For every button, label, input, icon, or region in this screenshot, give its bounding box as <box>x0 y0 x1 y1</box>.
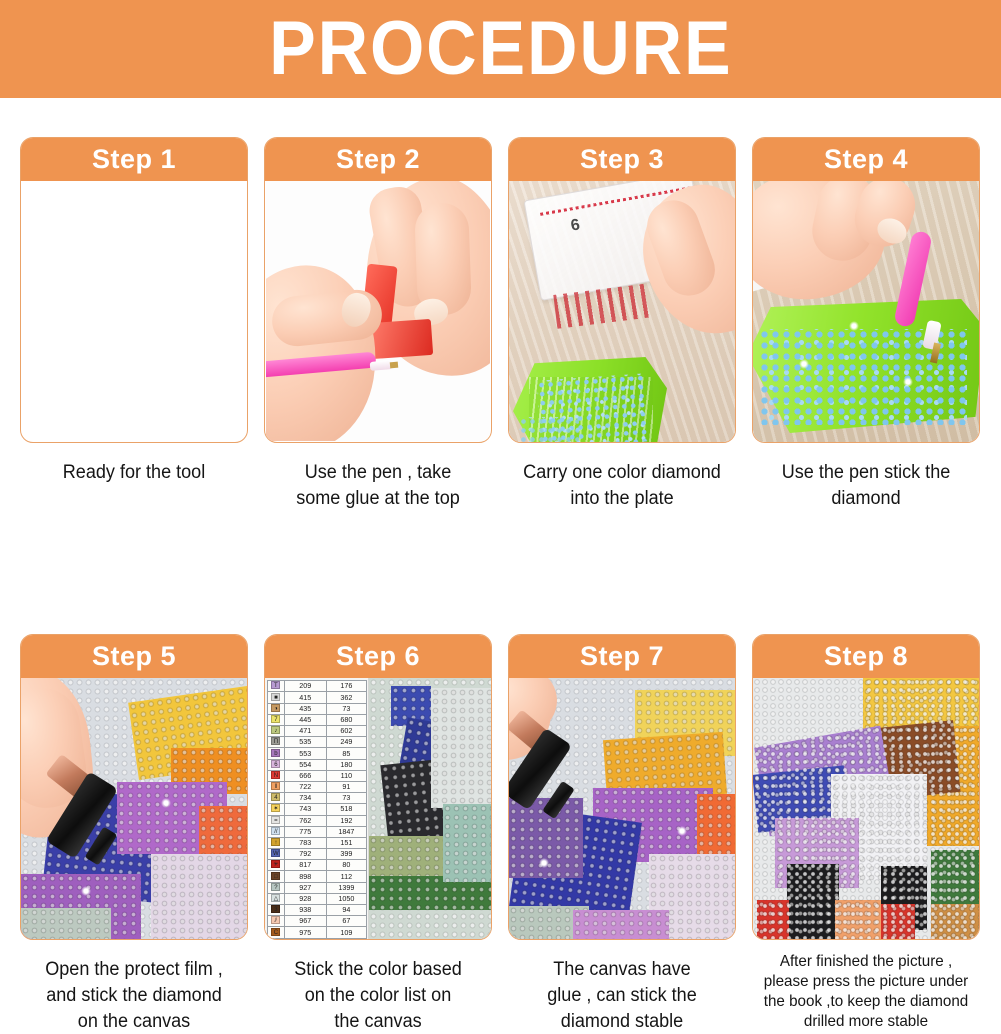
sparkle-icon <box>539 858 549 868</box>
color-code-cell: 734 <box>284 793 326 804</box>
color-count-cell: 91 <box>326 781 366 792</box>
color-swatch-icon: = <box>271 816 280 824</box>
caption-line: Use the pen , take <box>270 460 487 486</box>
step-6-illustration: T209176■415362◑435737445680♪471602Π53524… <box>265 678 491 939</box>
caption-line: Open the protect film , <box>26 957 243 983</box>
color-swatch-icon: ↑ <box>271 838 280 846</box>
color-list-row: □898112 <box>268 871 367 882</box>
step-8-photo <box>753 678 979 939</box>
step-7-illustration <box>509 678 735 939</box>
color-symbol-cell: Π <box>268 737 285 748</box>
color-list-row: ◑43573 <box>268 703 367 714</box>
caption-line: diamond <box>758 486 975 512</box>
color-list-row: C975109 <box>268 927 367 938</box>
step-7-card: Step 7 <box>508 634 736 940</box>
color-swatch-icon: ■ <box>271 693 280 701</box>
step-card-2: Step 2 Use the pen , <box>264 137 492 511</box>
color-code-cell: 553 <box>284 748 326 759</box>
caption-line: After finished the picture , <box>758 952 975 972</box>
step-1-card: Step 1 <box>20 137 248 443</box>
color-swatch-icon: ✶ <box>271 804 280 812</box>
color-swatch-icon: Π <box>271 737 280 745</box>
color-list-table: T209176■415362◑435737445680♪471602Π53524… <box>267 680 367 939</box>
color-list-row: △9281050 <box>268 893 367 904</box>
color-count-cell: 112 <box>326 871 366 882</box>
color-symbol-cell: ? <box>268 882 285 893</box>
color-list-row: 393894 <box>268 905 367 916</box>
color-symbol-cell: ✳ <box>268 860 285 871</box>
diamond-canvas-preview <box>369 678 491 939</box>
color-code-cell: 743 <box>284 804 326 815</box>
color-code-cell: 435 <box>284 703 326 714</box>
diamond-bead-texture <box>753 678 979 939</box>
step-7-photo <box>509 678 735 939</box>
blue-diamonds <box>519 417 579 442</box>
step-3-caption: Carry one color diamond into the plate <box>514 460 731 511</box>
color-swatch-icon: ◑ <box>271 704 280 712</box>
color-count-cell: 109 <box>326 927 366 938</box>
sparkle-icon <box>799 359 809 369</box>
color-list-row: 473473 <box>268 793 367 804</box>
step-5-illustration <box>21 678 247 939</box>
step-6-card: Step 6 T209176■415362◑435737445680♪47160… <box>264 634 492 940</box>
color-swatch-icon: △ <box>271 894 280 902</box>
color-symbol-cell: □ <box>268 871 285 882</box>
color-symbol-cell: ◑ <box>268 703 285 714</box>
color-count-cell: 1050 <box>326 893 366 904</box>
color-code-cell: 792 <box>284 849 326 860</box>
color-swatch-icon: T <box>271 681 280 689</box>
color-code-cell: 471 <box>284 726 326 737</box>
step-8-illustration <box>753 678 979 939</box>
step-1-header: Step 1 <box>21 138 247 181</box>
color-list-row: =762192 <box>268 815 367 826</box>
color-swatch-icon: 7 <box>271 715 280 723</box>
color-count-cell: 518 <box>326 804 366 815</box>
color-count-cell: 680 <box>326 714 366 725</box>
color-count-cell: 362 <box>326 692 366 703</box>
color-swatch-icon: □ <box>271 872 280 880</box>
caption-line: on the color list on <box>270 983 487 1009</box>
sparkle-icon <box>677 826 687 836</box>
color-code-cell: 3013 <box>284 938 326 939</box>
step-card-8: Step 8 <box>752 634 980 1034</box>
color-list-row: Π535249 <box>268 737 367 748</box>
color-code-cell: 898 <box>284 871 326 882</box>
color-swatch-icon: ⫽ <box>271 916 280 924</box>
color-code-cell: 722 <box>284 781 326 792</box>
color-symbol-cell: ↑ <box>268 837 285 848</box>
color-count-cell: 67 <box>326 916 366 927</box>
caption-line: the canvas <box>270 1009 487 1034</box>
color-symbol-cell: b <box>268 748 285 759</box>
color-swatch-icon: C <box>271 928 280 936</box>
grey-area <box>21 908 111 939</box>
color-list-chart: T209176■415362◑435737445680♪471602Π53524… <box>265 678 369 939</box>
color-swatch-icon: 4 <box>271 793 280 801</box>
step-6-caption: Stick the color based on the color list … <box>270 957 487 1034</box>
color-count-cell: 180 <box>326 759 366 770</box>
color-code-cell: 817 <box>284 860 326 871</box>
color-list-row: //7751847 <box>268 826 367 837</box>
step-2-photo <box>266 181 490 441</box>
color-swatch-icon: 3 <box>271 905 280 913</box>
color-count-cell: 249 <box>326 737 366 748</box>
caption-line: glue , can stick the <box>514 983 731 1009</box>
color-symbol-cell: W <box>268 849 285 860</box>
color-swatch-icon: ✳ <box>271 860 280 868</box>
light-area <box>431 688 491 808</box>
step-5-photo <box>21 678 247 939</box>
color-symbol-cell: 6 <box>268 759 285 770</box>
color-count-cell: 1847 <box>326 826 366 837</box>
orange-area <box>697 794 735 858</box>
color-symbol-cell: ⫽ <box>268 916 285 927</box>
color-swatch-icon: N <box>271 771 280 779</box>
color-symbol-cell: C <box>268 927 285 938</box>
caption-line: Use the pen stick the <box>758 460 975 486</box>
step-5-card: Step 5 <box>20 634 248 940</box>
step-card-5: Step 5 <box>20 634 248 1034</box>
color-swatch-icon: W <box>271 849 280 857</box>
color-list-row: ♪471602 <box>268 726 367 737</box>
color-symbol-cell: ♪ <box>268 726 285 737</box>
step-6-header: Step 6 <box>265 635 491 678</box>
color-list-row: ■415362 <box>268 692 367 703</box>
color-list-row: W792399 <box>268 849 367 860</box>
color-code-cell: 445 <box>284 714 326 725</box>
color-code-cell: 783 <box>284 837 326 848</box>
caption-line: The canvas have <box>514 957 731 983</box>
color-count-cell: 602 <box>326 726 366 737</box>
caption-line: please press the picture under <box>758 972 975 992</box>
caption-line: some glue at the top <box>270 486 487 512</box>
step-2-illustration <box>266 181 490 441</box>
color-code-cell: 535 <box>284 737 326 748</box>
pink-area <box>573 910 669 939</box>
color-symbol-cell: ✶ <box>268 804 285 815</box>
color-code-cell: 209 <box>284 681 326 692</box>
caption-line: Ready for the tool <box>26 460 243 486</box>
color-code-cell: 938 <box>284 905 326 916</box>
step-7-caption: The canvas have glue , can stick the dia… <box>514 957 731 1034</box>
color-code-cell: 775 <box>284 826 326 837</box>
color-code-cell: 975 <box>284 927 326 938</box>
color-code-cell: 928 <box>284 893 326 904</box>
white-area <box>151 854 247 939</box>
color-symbol-cell: △ <box>268 893 285 904</box>
color-list-row: ⫽96767 <box>268 916 367 927</box>
step-7-header: Step 7 <box>509 635 735 678</box>
step-3-photo: 6 <box>509 181 735 442</box>
color-symbol-cell: ‖ <box>268 781 285 792</box>
step-card-3: Step 3 6 Carry one color diamond <box>508 137 736 511</box>
teal-area <box>443 804 491 882</box>
color-list-row: ↑783151 <box>268 837 367 848</box>
color-count-cell: 176 <box>326 681 366 692</box>
page-title: PROCEDURE <box>269 11 732 87</box>
color-list-row: T209176 <box>268 681 367 692</box>
caption-line: Stick the color based <box>270 957 487 983</box>
color-count-cell: 80 <box>326 860 366 871</box>
color-count-cell: 192 <box>326 815 366 826</box>
caption-line: Carry one color diamond <box>514 460 731 486</box>
color-count-cell: 399 <box>326 849 366 860</box>
color-code-cell: 666 <box>284 770 326 781</box>
step-2-caption: Use the pen , take some glue at the top <box>270 460 487 511</box>
step-5-caption: Open the protect film , and stick the di… <box>26 957 243 1034</box>
step-4-caption: Use the pen stick the diamond <box>758 460 975 511</box>
color-count-cell: 110 <box>326 770 366 781</box>
step-card-4: Step 4 <box>752 137 980 511</box>
sparkle-icon <box>849 321 859 331</box>
sparkle-icon <box>903 377 913 387</box>
step-3-illustration: 6 <box>509 181 735 442</box>
color-list-row: ‖72291 <box>268 781 367 792</box>
color-symbol-cell: T <box>268 681 285 692</box>
sparkle-icon <box>81 886 91 896</box>
step-2-card: Step 2 <box>264 137 492 443</box>
color-symbol-cell: 7 <box>268 714 285 725</box>
finger-icon <box>414 202 472 316</box>
color-list-row: ✳81780 <box>268 860 367 871</box>
color-count-cell: 1399 <box>326 882 366 893</box>
step-card-6: Step 6 T209176■415362◑435737445680♪47160… <box>264 634 492 1034</box>
color-swatch-icon: ? <box>271 883 280 891</box>
color-code-cell: 554 <box>284 759 326 770</box>
color-symbol-cell: N <box>268 770 285 781</box>
color-symbol-cell: = <box>268 815 285 826</box>
color-symbol-cell: 3 <box>268 905 285 916</box>
color-count-cell: 526 <box>326 938 366 939</box>
caption-line: the book ,to keep the diamond <box>758 992 975 1012</box>
step-card-7: Step 7 <box>508 634 736 1034</box>
step-4-photo <box>753 181 979 442</box>
color-count-cell: 73 <box>326 793 366 804</box>
color-list-row: Y3013526 <box>268 938 367 939</box>
color-symbol-cell: 4 <box>268 793 285 804</box>
caption-line: into the plate <box>514 486 731 512</box>
caption-line: drilled more stable <box>758 1012 975 1032</box>
step-4-card: Step 4 <box>752 137 980 443</box>
color-list-row: ?9271399 <box>268 882 367 893</box>
steps-grid: Step 1 Ready for the tool Step 2 <box>20 137 981 1034</box>
color-symbol-cell: ■ <box>268 692 285 703</box>
color-list-row: ✶743518 <box>268 804 367 815</box>
color-list-row: 6554180 <box>268 759 367 770</box>
color-list-row: N666110 <box>268 770 367 781</box>
step-8-caption: After finished the picture , please pres… <box>758 952 975 1032</box>
color-swatch-icon: Y <box>271 939 280 940</box>
color-swatch-icon: ‖ <box>271 782 280 790</box>
color-count-cell: 94 <box>326 905 366 916</box>
color-list-row: 7445680 <box>268 714 367 725</box>
step-2-header: Step 2 <box>265 138 491 181</box>
color-code-cell: 927 <box>284 882 326 893</box>
color-swatch-icon: ♪ <box>271 726 280 734</box>
step-8-card: Step 8 <box>752 634 980 940</box>
step-1-caption: Ready for the tool <box>26 460 243 486</box>
color-code-cell: 415 <box>284 692 326 703</box>
step-6-photo: T209176■415362◑435737445680♪471602Π53524… <box>265 678 491 939</box>
caption-line: and stick the diamond <box>26 983 243 1009</box>
color-list-body: T209176■415362◑435737445680♪471602Π53524… <box>268 681 367 940</box>
color-count-cell: 73 <box>326 703 366 714</box>
step-card-1: Step 1 Ready for the tool <box>20 137 248 511</box>
step-4-illustration <box>753 181 979 442</box>
color-count-cell: 85 <box>326 748 366 759</box>
caption-line: on the canvas <box>26 1009 243 1034</box>
step-3-card: Step 3 6 <box>508 137 736 443</box>
step-8-header: Step 8 <box>753 635 979 678</box>
color-code-cell: 967 <box>284 916 326 927</box>
step-4-header: Step 4 <box>753 138 979 181</box>
color-symbol-cell: // <box>268 826 285 837</box>
color-swatch-icon: b <box>271 749 280 757</box>
step-3-header: Step 3 <box>509 138 735 181</box>
color-symbol-cell: Y <box>268 938 285 939</box>
pen-metal-nib-icon <box>390 362 398 369</box>
caption-line: diamond stable <box>514 1009 731 1034</box>
color-code-cell: 762 <box>284 815 326 826</box>
color-list-row: b55385 <box>268 748 367 759</box>
page-header-banner: PROCEDURE <box>0 0 1001 98</box>
sparkle-icon <box>161 798 171 808</box>
color-count-cell: 151 <box>326 837 366 848</box>
step-5-header: Step 5 <box>21 635 247 678</box>
color-swatch-icon: // <box>271 827 280 835</box>
color-swatch-icon: 6 <box>271 760 280 768</box>
